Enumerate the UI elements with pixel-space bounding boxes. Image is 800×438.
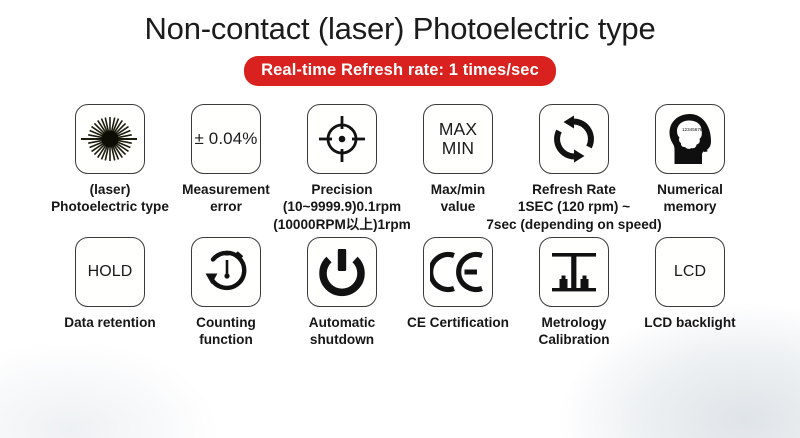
feature-tile: LCD xyxy=(655,237,725,307)
hold-text-icon: HOLD xyxy=(88,263,133,280)
feature-lcd-backlight: LCD LCD backlight xyxy=(632,237,748,331)
stopwatch-counting-icon xyxy=(200,246,252,298)
feature-tile xyxy=(307,104,377,174)
feature-caption: Counting function xyxy=(162,314,290,349)
feature-automatic-shutdown: Automatic shutdown xyxy=(284,237,400,349)
feature-tile xyxy=(423,237,493,307)
feature-caption: Metrology Calibration xyxy=(510,314,638,349)
feature-tile xyxy=(307,237,377,307)
feature-tile: ± 0.04% xyxy=(191,104,261,174)
feature-grid: (laser) Photoelectric type ± 0.04% Measu… xyxy=(0,104,800,349)
feature-numerical-memory: 123456789... Numerical memory xyxy=(632,104,748,216)
feature-tile: MAX MIN xyxy=(423,104,493,174)
feature-tile: HOLD xyxy=(75,237,145,307)
feature-tile xyxy=(539,104,609,174)
feature-counting-function: Counting function xyxy=(168,237,284,349)
feature-tile: 123456789... xyxy=(655,104,725,174)
feature-row-1: (laser) Photoelectric type ± 0.04% Measu… xyxy=(0,104,800,233)
feature-tile xyxy=(539,237,609,307)
feature-caption: CE Certification xyxy=(394,314,522,331)
laser-burst-icon xyxy=(81,116,139,162)
page-title: Non-contact (laser) Photoelectric type xyxy=(0,0,800,49)
feature-caption: Data retention xyxy=(46,314,174,331)
refresh-rate-badge: Real-time Refresh rate: 1 times/sec xyxy=(244,56,556,86)
infographic-page: Non-contact (laser) Photoelectric type R… xyxy=(0,0,800,438)
min-label: MIN xyxy=(442,138,474,158)
lcd-text-icon: LCD xyxy=(674,263,706,280)
feature-caption: Numerical memory xyxy=(615,181,765,216)
head-brain-memory-icon: 123456789... xyxy=(661,110,719,168)
balance-calibration-icon xyxy=(548,247,600,297)
feature-caption: LCD backlight xyxy=(626,314,754,331)
max-min-text-icon: MAX MIN xyxy=(439,120,477,158)
tolerance-text-icon: ± 0.04% xyxy=(195,130,258,148)
refresh-cycle-icon xyxy=(549,114,599,164)
crosshair-target-icon xyxy=(317,114,367,164)
badge-container: Real-time Refresh rate: 1 times/sec xyxy=(0,56,800,86)
max-label: MAX xyxy=(439,119,477,139)
brain-digits-label: 123456789... xyxy=(682,127,709,132)
feature-ce-certification: CE Certification xyxy=(400,237,516,331)
feature-caption: Automatic shutdown xyxy=(278,314,406,349)
ce-mark-icon xyxy=(430,250,486,294)
feature-data-retention: HOLD Data retention xyxy=(52,237,168,331)
power-off-icon xyxy=(318,247,366,297)
feature-tile xyxy=(75,104,145,174)
feature-tile xyxy=(191,237,261,307)
feature-metrology-calibration: Metrology Calibration xyxy=(516,237,632,349)
feature-row-2: HOLD Data retention xyxy=(0,237,800,349)
